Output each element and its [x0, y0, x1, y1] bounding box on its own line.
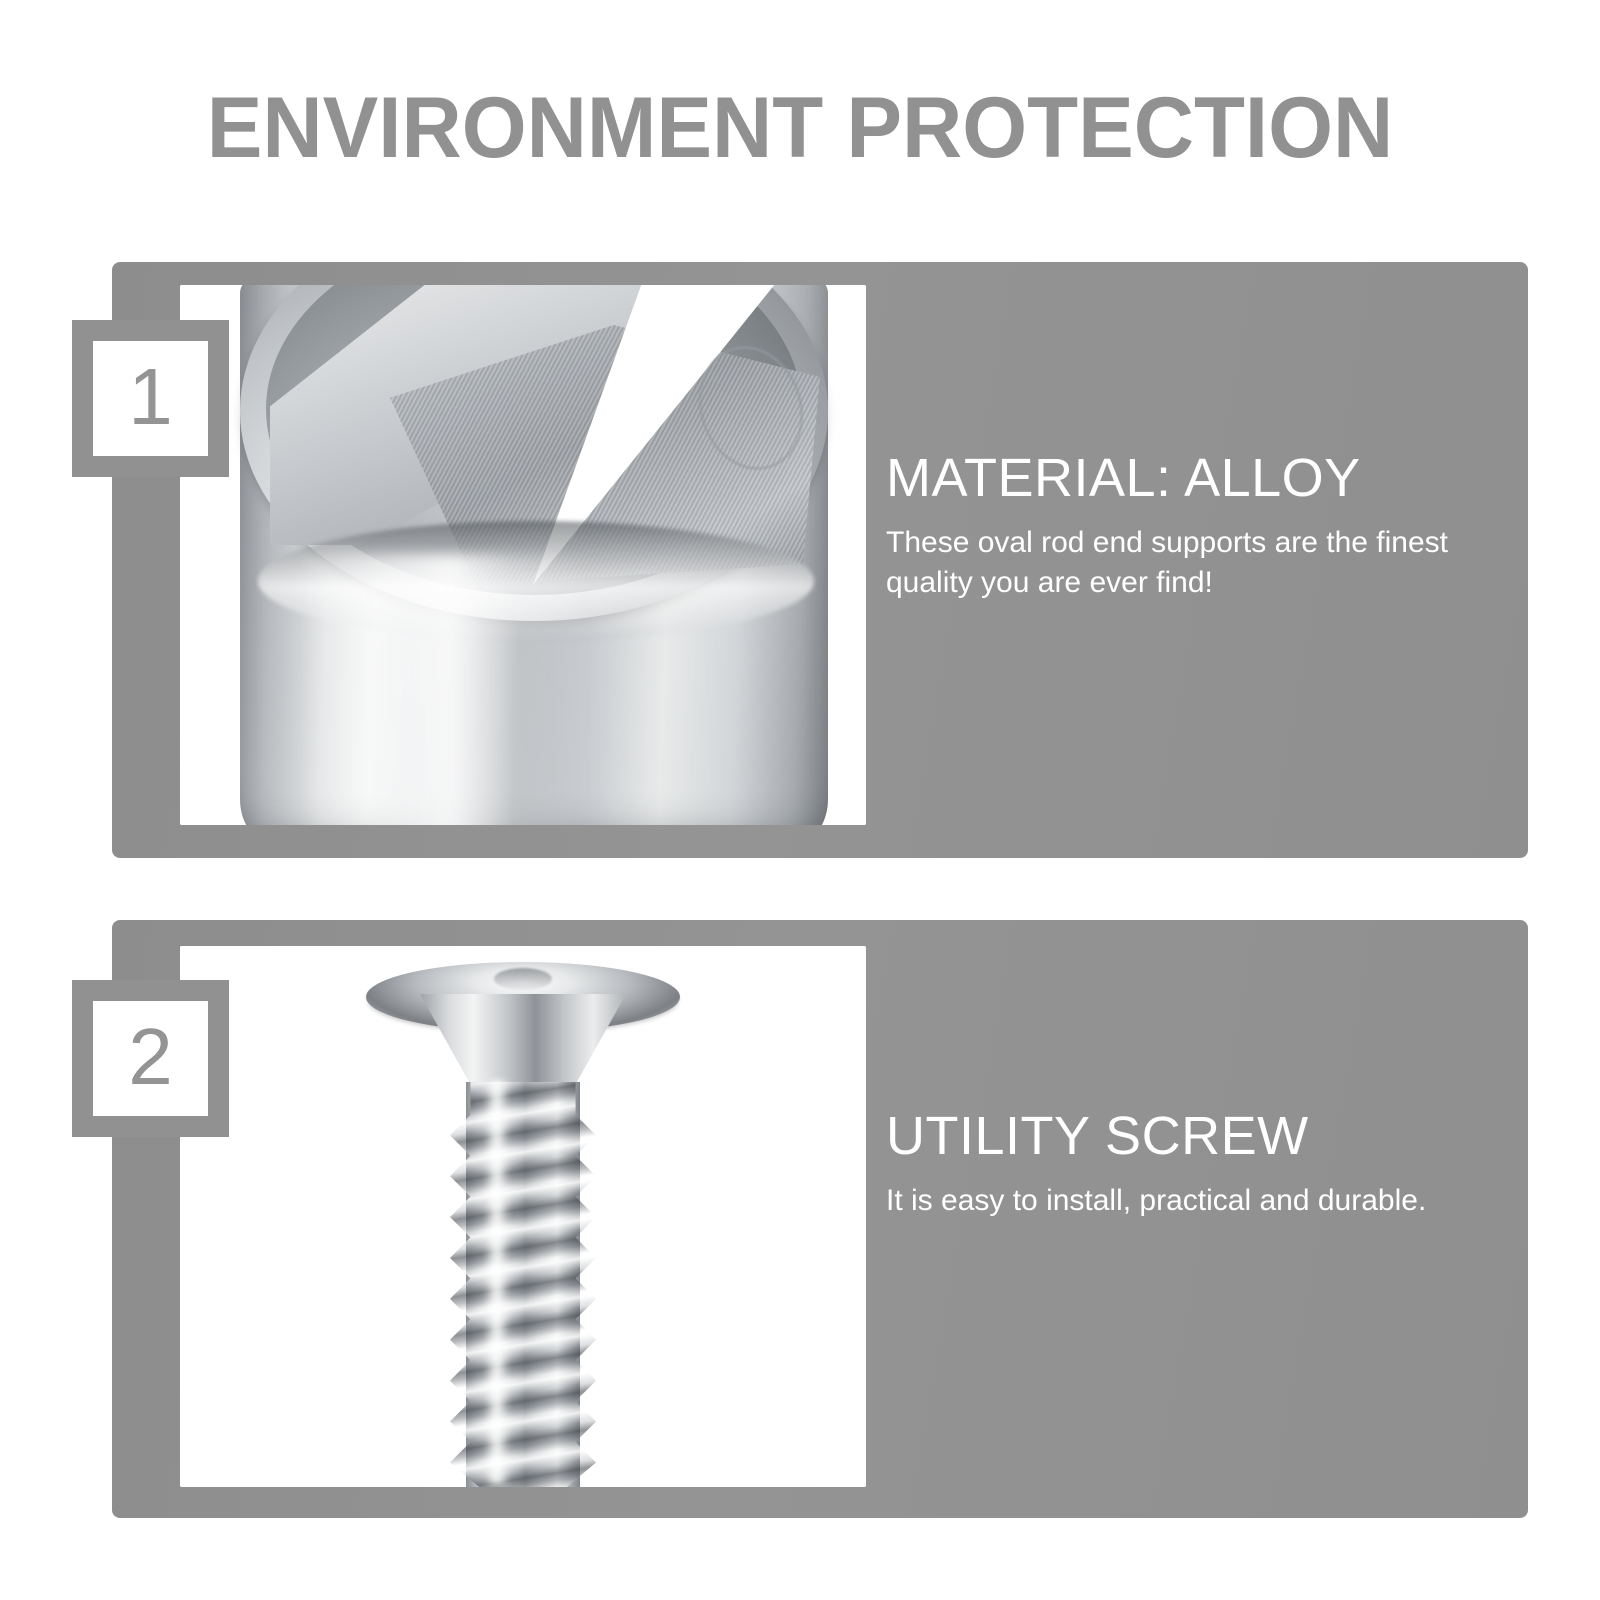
feature-number-badge-1: 1 — [72, 320, 229, 477]
feature-card-1: MATERIAL: ALLOY These oval rod end suppo… — [112, 262, 1528, 858]
product-photo-window-1 — [180, 285, 866, 825]
screw-threads — [450, 1078, 596, 1487]
product-photo-window-2 — [180, 946, 866, 1487]
feature-number-badge-2: 2 — [72, 980, 229, 1137]
feature-body-2: It is easy to install, practical and dur… — [886, 1181, 1451, 1221]
rod-end-support-photo — [180, 285, 866, 825]
feature-card-2: UTILITY SCREW It is easy to install, pra… — [112, 920, 1528, 1518]
page-title: ENVIRONMENT PROTECTION — [24, 82, 1576, 174]
feature-heading-2: UTILITY SCREW — [886, 1105, 1486, 1167]
feature-body-1: These oval rod end supports are the fine… — [886, 523, 1451, 603]
screw-drive-recess — [494, 968, 552, 990]
feature-heading-1: MATERIAL: ALLOY — [886, 447, 1486, 509]
feature-number-1: 1 — [93, 341, 208, 456]
feature-text-block-1: MATERIAL: ALLOY These oval rod end suppo… — [886, 447, 1486, 603]
screw-specular-highlight — [484, 1080, 510, 1484]
feature-number-2: 2 — [93, 1001, 208, 1116]
screw-countersink-cone — [420, 994, 626, 1090]
feature-text-block-2: UTILITY SCREW It is easy to install, pra… — [886, 1105, 1486, 1221]
utility-screw-photo — [180, 946, 866, 1487]
rod-end-specular-highlight — [300, 555, 770, 825]
screw-assembly — [408, 962, 638, 1487]
